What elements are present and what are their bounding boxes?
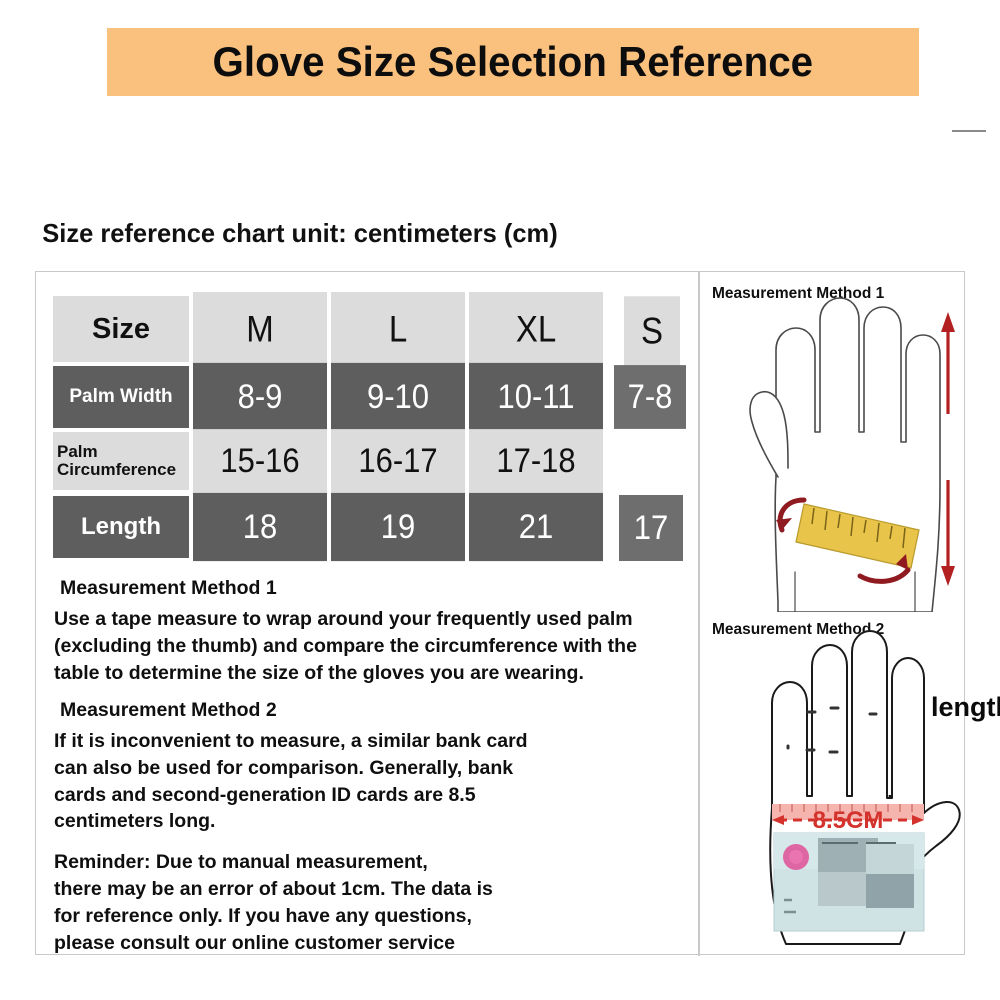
method1-line-1: Use a tape measure to wrap around your f… bbox=[54, 606, 694, 633]
method2-line-3: cards and second-generation ID cards are… bbox=[54, 782, 694, 809]
reminder-body: Reminder: Due to manual measurement, the… bbox=[54, 849, 694, 957]
method2-line-2: can also be used for comparison. General… bbox=[54, 755, 694, 782]
card-length-label: 8.5CM bbox=[813, 807, 884, 834]
method2-line-4: centimeters long. bbox=[54, 808, 694, 835]
title-banner: Glove Size Selection Reference bbox=[107, 28, 919, 96]
table-header-l: L bbox=[331, 292, 465, 366]
reminder-line-3: for reference only. If you have any ques… bbox=[54, 903, 694, 930]
table-cell-palm-circumference-m: 15-16 bbox=[193, 429, 327, 493]
table-cell-palm-width-xl: 10-11 bbox=[469, 363, 603, 431]
table-cell-length-m: 18 bbox=[193, 493, 327, 561]
section-heading: Size reference chart unit: centimeters (… bbox=[42, 218, 557, 249]
table-cell-palm-circumference-xl: 17-18 bbox=[469, 429, 603, 493]
table-header-m: M bbox=[193, 292, 327, 366]
page-title: Glove Size Selection Reference bbox=[213, 38, 814, 86]
method1-heading: Measurement Method 1 bbox=[60, 577, 694, 600]
hand-tape-measure-illustration bbox=[700, 272, 965, 612]
reminder-line-4: please consult our online customer servi… bbox=[54, 930, 694, 957]
table-row-label-palm-width: Palm Width bbox=[53, 366, 189, 428]
method1-body: Use a tape measure to wrap around your f… bbox=[54, 606, 694, 687]
method2-body: If it is inconvenient to measure, a simi… bbox=[54, 728, 694, 836]
palm-circumference-label-line1: Palm bbox=[57, 443, 98, 461]
table-cell-palm-width-l: 9-10 bbox=[331, 363, 465, 431]
decorative-rule bbox=[952, 130, 986, 132]
reminder-line-2: there may be an error of about 1cm. The … bbox=[54, 876, 694, 903]
palm-circumference-label-line2: Circumference bbox=[57, 461, 176, 479]
table-cell-palm-width-s: 7-8 bbox=[614, 365, 686, 429]
reminder-line-1: Reminder: Due to manual measurement, bbox=[54, 849, 694, 876]
method1-line-3: table to determine the size of the glove… bbox=[54, 660, 694, 687]
table-header-size: Size bbox=[53, 296, 189, 362]
table-cell-length-xl: 21 bbox=[469, 493, 603, 561]
table-cell-palm-circumference-l: 16-17 bbox=[331, 429, 465, 493]
method2-heading: Measurement Method 2 bbox=[60, 699, 694, 722]
table-header-s: S bbox=[624, 296, 680, 365]
instructions-block: Measurement Method 1 Use a tape measure … bbox=[54, 577, 694, 967]
method2-line-1: If it is inconvenient to measure, a simi… bbox=[54, 728, 694, 755]
table-cell-palm-width-m: 8-9 bbox=[193, 363, 327, 431]
hand-id-card-illustration: 8.5CM bbox=[700, 608, 965, 956]
method1-line-2: (excluding the thumb) and compare the ci… bbox=[54, 633, 694, 660]
table-row-label-length: Length bbox=[53, 496, 189, 558]
table-row-label-palm-circumference: Palm Circumference bbox=[53, 432, 189, 490]
size-reference-card: Size M L XL S Palm Width 8-9 9-10 10-11 … bbox=[35, 271, 965, 955]
table-header-xl: XL bbox=[469, 292, 603, 366]
table-cell-length-l: 19 bbox=[331, 493, 465, 561]
table-cell-length-s: 17 bbox=[619, 495, 683, 561]
